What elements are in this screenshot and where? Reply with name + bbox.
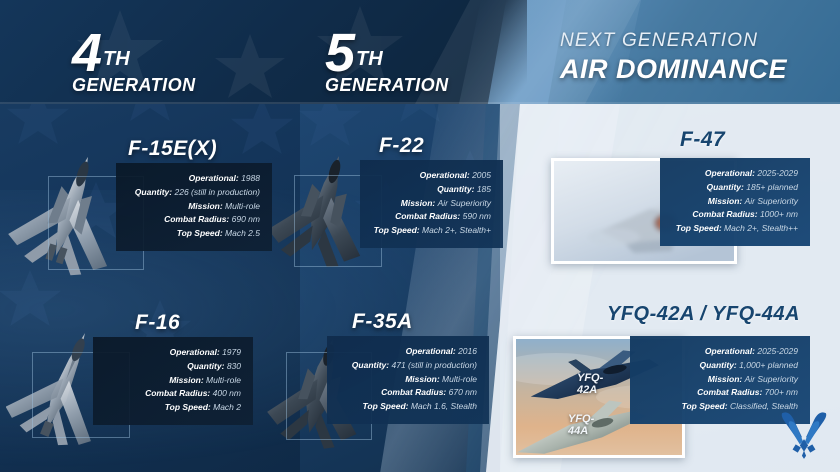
spec-row-combat-radius: Combat Radius: 400 nm: [105, 387, 241, 401]
yfq-title: YFQ-42A / YFQ-44A: [607, 303, 800, 326]
gen4-word: GENERATION: [72, 76, 196, 94]
f-15ex-spec-panel: Operational: 1988 Quantity: 226 (still i…: [116, 163, 272, 251]
f-22-title: F-22: [379, 134, 424, 158]
gen4-ordinal: TH: [103, 48, 130, 70]
gen5-ordinal: TH: [356, 48, 383, 70]
spec-row-operational: Operational: 2005: [372, 169, 491, 183]
spec-row-mission: Mission: Multi-role: [339, 373, 477, 387]
spec-row-mission: Mission: Air Superiority: [672, 195, 798, 209]
spec-row-top-speed: Top Speed: Mach 2+, Stealth++: [672, 222, 798, 236]
nextgen-line1: NEXT GENERATION: [560, 30, 787, 52]
spec-row-combat-radius: Combat Radius: 700+ nm: [642, 386, 798, 400]
f-22-spec-panel: Operational: 2005 Quantity: 185 Mission:…: [360, 160, 503, 248]
spec-row-top-speed: Top Speed: Classified, Stealth: [642, 400, 798, 414]
spec-row-mission: Mission: Air Superiority: [642, 373, 798, 387]
spec-row-mission: Mission: Multi-role: [128, 200, 260, 214]
f-16-spec-panel: Operational: 1979 Quantity: 830 Mission:…: [93, 337, 253, 425]
spec-row-quantity: Quantity: 185: [372, 183, 491, 197]
f-16-title: F-16: [135, 311, 180, 335]
f-47-title: F-47: [680, 128, 725, 152]
spec-row-combat-radius: Combat Radius: 590 nm: [372, 210, 491, 224]
spec-row-operational: Operational: 2025-2029: [672, 167, 798, 181]
spec-row-operational: Operational: 1988: [128, 172, 260, 186]
f-47-spec-panel: Operational: 2025-2029 Quantity: 185+ pl…: [660, 158, 810, 246]
spec-row-operational: Operational: 2025-2029: [642, 345, 798, 359]
f-35a-title: F-35A: [352, 310, 413, 334]
gen4-number: 4: [72, 23, 101, 83]
spec-row-quantity: Quantity: 1,000+ planned: [642, 359, 798, 373]
spec-row-quantity: Quantity: 830: [105, 360, 241, 374]
spec-row-operational: Operational: 1979: [105, 346, 241, 360]
spec-row-top-speed: Top Speed: Mach 2.5: [128, 227, 260, 241]
heading-4th-generation: 4TH GENERATION: [72, 26, 196, 94]
spec-row-quantity: Quantity: 185+ planned: [672, 181, 798, 195]
heading-5th-generation: 5TH GENERATION: [325, 26, 449, 94]
spec-row-combat-radius: Combat Radius: 670 nm: [339, 386, 477, 400]
f-35a-spec-panel: Operational: 2016 Quantity: 471 (still i…: [327, 336, 489, 424]
spec-row-combat-radius: Combat Radius: 1000+ nm: [672, 208, 798, 222]
heading-next-generation-air-dominance: NEXT GENERATION AIR DOMINANCE: [560, 30, 787, 85]
header-bottom-rule: [0, 102, 840, 104]
spec-row-operational: Operational: 2016: [339, 345, 477, 359]
spec-row-mission: Mission: Multi-role: [105, 374, 241, 388]
gen5-number: 5: [325, 23, 354, 83]
yfq-42a-photo-label: YFQ-42A: [577, 372, 603, 396]
spec-row-mission: Mission: Air Superiority: [372, 197, 491, 211]
spec-row-quantity: Quantity: 226 (still in production): [128, 186, 260, 200]
spec-row-quantity: Quantity: 471 (still in production): [339, 359, 477, 373]
nextgen-line2: AIR DOMINANCE: [560, 54, 787, 85]
gen5-word: GENERATION: [325, 76, 449, 94]
usaf-wings-icon: [778, 410, 830, 460]
spec-row-top-speed: Top Speed: Mach 2: [105, 401, 241, 415]
spec-row-combat-radius: Combat Radius: 690 nm: [128, 213, 260, 227]
f-15ex-title: F-15E(X): [128, 137, 217, 161]
spec-row-top-speed: Top Speed: Mach 2+, Stealth+: [372, 224, 491, 238]
spec-row-top-speed: Top Speed: Mach 1.6, Stealth: [339, 400, 477, 414]
infographic-canvas: 4TH GENERATION 5TH GENERATION NEXT GENER…: [0, 0, 840, 472]
yfq-44a-photo-label: YFQ-44A: [568, 413, 594, 437]
